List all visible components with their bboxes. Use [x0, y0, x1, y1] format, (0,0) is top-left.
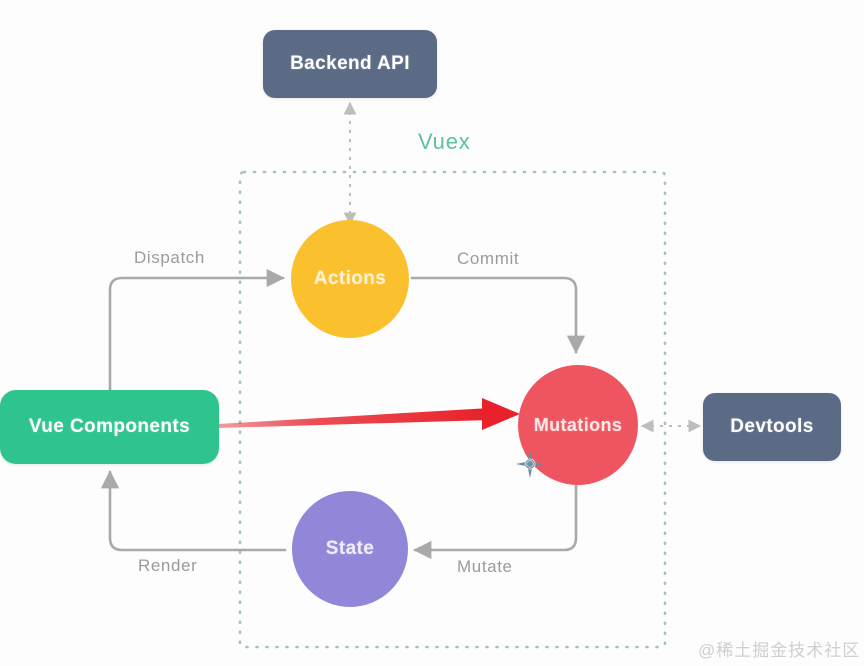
edge-render [110, 472, 285, 550]
edge-label-render: Render [138, 556, 197, 576]
vuex-container-title: Vuex [418, 129, 471, 155]
edge-commit [412, 278, 576, 352]
node-mutations[interactable] [518, 365, 638, 485]
node-devtools[interactable] [703, 393, 841, 461]
edge-mutate [415, 478, 576, 550]
edge-dispatch [110, 278, 283, 392]
node-state[interactable] [292, 491, 408, 607]
diagram-canvas: Backend API Devtools Vue Components Acti… [0, 0, 864, 666]
edge-direct-commit-highlight [218, 398, 520, 430]
diagram-svg [0, 0, 864, 666]
node-actions[interactable] [291, 220, 409, 338]
edge-label-dispatch: Dispatch [134, 248, 205, 268]
watermark-text: @稀土掘金技术社区 [698, 636, 860, 661]
edge-label-mutate: Mutate [457, 557, 513, 577]
edge-label-commit: Commit [457, 249, 519, 269]
node-vue-components[interactable] [0, 390, 219, 464]
node-backend-api[interactable] [263, 30, 437, 98]
